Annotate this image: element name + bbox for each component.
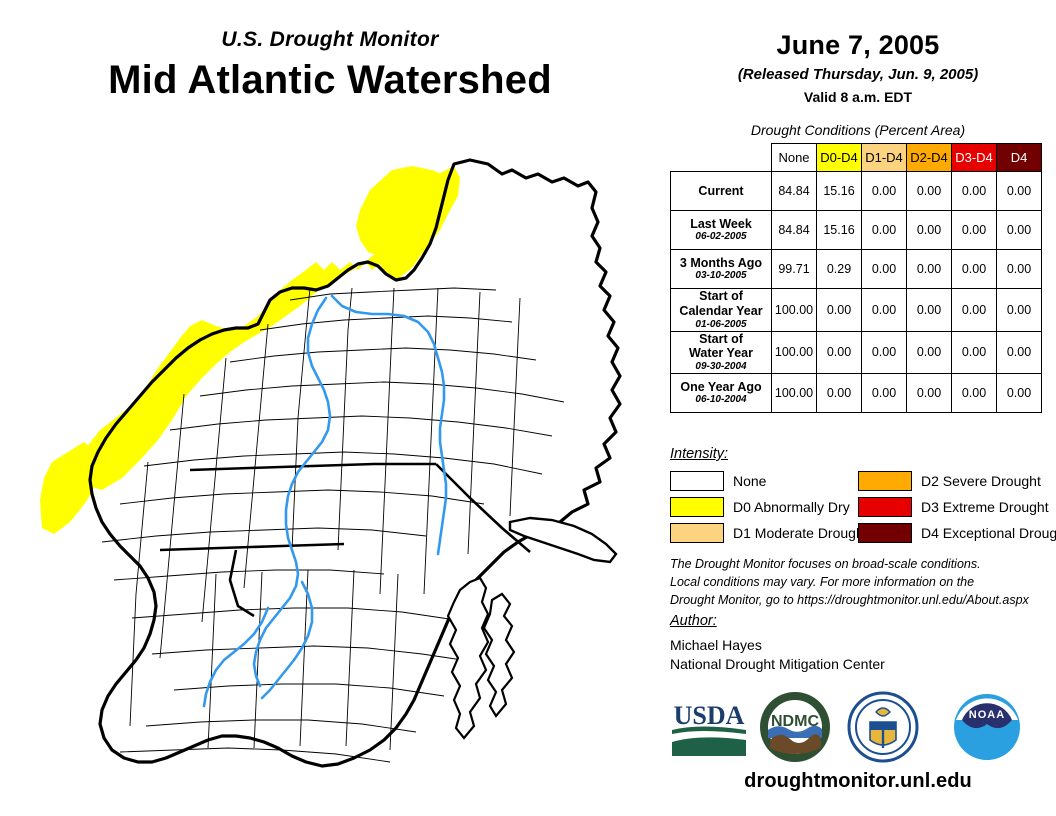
- legend-label: D2 Severe Drought: [921, 473, 1041, 489]
- table-row: One Year Ago06-10-2004100.000.000.000.00…: [671, 374, 1042, 413]
- value-cell: 0.00: [817, 374, 862, 413]
- legend-column-left: NoneD0 Abnormally DryD1 Moderate Drought: [670, 468, 868, 546]
- col-header-d1-d4: D1-D4: [862, 144, 907, 172]
- row-label-cell: Start ofWater Year09-30-2004: [671, 331, 772, 374]
- row-label-date: 09-30-2004: [671, 361, 771, 373]
- legend-item: D4 Exceptional Drought: [858, 520, 1056, 546]
- table-row: Start ofWater Year09-30-2004100.000.000.…: [671, 331, 1042, 374]
- ndmc-logo-text: NDMC: [771, 713, 819, 730]
- drought-monitor-page: U.S. Drought Monitor Mid Atlantic Waters…: [0, 0, 1056, 816]
- row-label-cell: 3 Months Ago03-10-2005: [671, 250, 772, 289]
- noaa-logo-text: NOAA: [969, 709, 1005, 721]
- table-row: Current84.8415.160.000.000.000.00: [671, 172, 1042, 211]
- disclaimer-line-2: Local conditions may vary. For more info…: [670, 574, 1050, 592]
- row-label: 3 Months Ago: [671, 256, 771, 271]
- valid-time: Valid 8 a.m. EDT: [660, 89, 1056, 105]
- col-header-d3-d4: D3-D4: [952, 144, 997, 172]
- value-cell: 99.71: [772, 250, 817, 289]
- ndmc-logo: NDMC: [758, 690, 832, 764]
- drought-conditions-table: None D0-D4 D1-D4 D2-D4 D3-D4 D4 Current8…: [670, 143, 1042, 413]
- table-corner-cell: [671, 144, 772, 172]
- value-cell: 0.00: [997, 250, 1042, 289]
- value-cell: 100.00: [772, 331, 817, 374]
- value-cell: 0.00: [997, 374, 1042, 413]
- value-cell: 0.00: [862, 331, 907, 374]
- value-cell: 0.00: [907, 289, 952, 332]
- table-row: Start ofCalendar Year01-06-2005100.000.0…: [671, 289, 1042, 332]
- value-cell: 0.00: [997, 331, 1042, 374]
- legend-label: D4 Exceptional Drought: [921, 525, 1056, 541]
- legend-label: None: [733, 473, 766, 489]
- value-cell: 0.00: [907, 250, 952, 289]
- table-caption: Drought Conditions (Percent Area): [660, 122, 1056, 138]
- right-panel: June 7, 2005 (Released Thursday, Jun. 9,…: [660, 0, 1056, 816]
- row-label: Current: [671, 184, 771, 199]
- value-cell: 0.00: [862, 374, 907, 413]
- title-block: U.S. Drought Monitor Mid Atlantic Waters…: [0, 28, 660, 103]
- author-org: National Drought Mitigation Center: [670, 656, 885, 672]
- map-svg: [40, 130, 660, 770]
- usda-logo-text: USDA: [674, 701, 745, 730]
- value-cell: 84.84: [772, 211, 817, 250]
- usdc-seal-logo: [846, 690, 920, 764]
- value-cell: 0.00: [907, 374, 952, 413]
- value-cell: 0.00: [952, 289, 997, 332]
- noaa-logo: NOAA: [950, 690, 1024, 764]
- page-kicker: U.S. Drought Monitor: [0, 28, 660, 52]
- value-cell: 100.00: [772, 289, 817, 332]
- col-header-d4: D4: [997, 144, 1042, 172]
- value-cell: 0.00: [862, 172, 907, 211]
- value-cell: 0.00: [817, 289, 862, 332]
- value-cell: 84.84: [772, 172, 817, 211]
- author-label: Author:: [670, 613, 717, 629]
- table-header-row: None D0-D4 D1-D4 D2-D4 D3-D4 D4: [671, 144, 1042, 172]
- drought-map: [40, 130, 660, 770]
- legend-swatch: [670, 497, 724, 517]
- page-title: Mid Atlantic Watershed: [0, 58, 660, 103]
- value-cell: 0.00: [997, 211, 1042, 250]
- disclaimer-text: The Drought Monitor focuses on broad-sca…: [670, 556, 1050, 609]
- row-label: One Year Ago: [671, 380, 771, 395]
- legend-item: D3 Extreme Drought: [858, 494, 1056, 520]
- site-url[interactable]: droughtmonitor.unl.edu: [660, 770, 1056, 793]
- row-label-cell: Current: [671, 172, 772, 211]
- row-label-cell: One Year Ago06-10-2004: [671, 374, 772, 413]
- legend-swatch: [858, 523, 912, 543]
- map-layer-rivers: [204, 296, 446, 706]
- value-cell: 0.00: [862, 250, 907, 289]
- row-label-date: 03-10-2005: [671, 270, 771, 282]
- value-cell: 0.00: [907, 211, 952, 250]
- value-cell: 0.00: [862, 289, 907, 332]
- legend-column-right: D2 Severe DroughtD3 Extreme DroughtD4 Ex…: [858, 468, 1056, 546]
- legend-label: D3 Extreme Drought: [921, 499, 1049, 515]
- map-layer-d0-shading: [40, 166, 460, 534]
- row-label: Start ofCalendar Year: [671, 289, 771, 319]
- disclaimer-line-3: Drought Monitor, go to https://droughtmo…: [670, 592, 1050, 610]
- value-cell: 0.00: [952, 331, 997, 374]
- legend-item: D2 Severe Drought: [858, 468, 1056, 494]
- legend-title: Intensity:: [670, 446, 728, 462]
- row-label: Start ofWater Year: [671, 332, 771, 362]
- row-label: Last Week: [671, 217, 771, 232]
- logo-strip: USDA NDMC: [660, 690, 1056, 770]
- value-cell: 0.00: [817, 331, 862, 374]
- value-cell: 15.16: [817, 172, 862, 211]
- legend-swatch: [858, 471, 912, 491]
- legend-item: D1 Moderate Drought: [670, 520, 868, 546]
- row-label-date: 06-10-2004: [671, 394, 771, 406]
- legend-swatch: [670, 471, 724, 491]
- map-layer-chesapeake-bay: [448, 578, 514, 738]
- value-cell: 15.16: [817, 211, 862, 250]
- map-layer-long-island: [510, 518, 616, 562]
- release-note: (Released Thursday, Jun. 9, 2005): [660, 66, 1056, 83]
- col-header-none: None: [772, 144, 817, 172]
- value-cell: 0.00: [952, 374, 997, 413]
- value-cell: 0.00: [952, 211, 997, 250]
- legend-swatch: [670, 523, 724, 543]
- value-cell: 0.00: [952, 250, 997, 289]
- row-label-cell: Start ofCalendar Year01-06-2005: [671, 289, 772, 332]
- table-row: 3 Months Ago03-10-200599.710.290.000.000…: [671, 250, 1042, 289]
- row-label-cell: Last Week06-02-2005: [671, 211, 772, 250]
- legend-item: None: [670, 468, 868, 494]
- value-cell: 100.00: [772, 374, 817, 413]
- report-date: June 7, 2005: [660, 30, 1056, 61]
- value-cell: 0.00: [952, 172, 997, 211]
- usda-logo: USDA: [670, 690, 748, 760]
- value-cell: 0.00: [907, 172, 952, 211]
- legend-label: D1 Moderate Drought: [733, 525, 868, 541]
- value-cell: 0.00: [862, 211, 907, 250]
- table-row: Last Week06-02-200584.8415.160.000.000.0…: [671, 211, 1042, 250]
- legend-label: D0 Abnormally Dry: [733, 499, 850, 515]
- row-label-date: 01-06-2005: [671, 319, 771, 331]
- row-label-date: 06-02-2005: [671, 231, 771, 243]
- value-cell: 0.29: [817, 250, 862, 289]
- table-body: Current84.8415.160.000.000.000.00Last We…: [671, 172, 1042, 413]
- legend-swatch: [858, 497, 912, 517]
- disclaimer-line-1: The Drought Monitor focuses on broad-sca…: [670, 556, 1050, 574]
- col-header-d0-d4: D0-D4: [817, 144, 862, 172]
- value-cell: 0.00: [997, 289, 1042, 332]
- value-cell: 0.00: [997, 172, 1042, 211]
- author-name: Michael Hayes: [670, 637, 762, 653]
- col-header-d2-d4: D2-D4: [907, 144, 952, 172]
- legend-item: D0 Abnormally Dry: [670, 494, 868, 520]
- value-cell: 0.00: [907, 331, 952, 374]
